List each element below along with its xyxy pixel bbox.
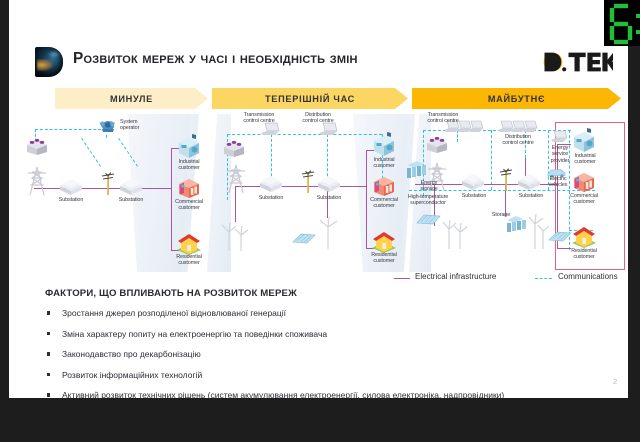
- factors-section: ФАКТОРИ, ЩО ВПЛИВАЮТЬ НА РОЗВИТОК МЕРЕЖ …: [45, 288, 605, 398]
- substation-icon: [459, 173, 487, 193]
- industrial-customer-label: Industrial customer: [168, 159, 210, 172]
- solar-panel-icon: [291, 232, 317, 246]
- bullet-square-icon: [47, 373, 50, 376]
- substation-label: Substation: [304, 195, 354, 201]
- energy-storage-icon: [404, 160, 432, 182]
- communications-legend-label: Communications: [558, 272, 618, 281]
- comm-line: [227, 134, 382, 135]
- electrical-legend-label: Electrical infrastructure: [415, 272, 496, 281]
- factor-item: Розвиток інформаційних технологій: [45, 370, 605, 381]
- residential-customer-icon: [370, 231, 398, 253]
- presentation-slide: Розвиток мереж у часі і необхідність змі…: [9, 0, 628, 398]
- page-title: Розвиток мереж у часі і необхідність змі…: [73, 50, 358, 68]
- factor-item-text: Зростання джерел розподіленої відновлюва…: [62, 308, 286, 318]
- substation-icon: [315, 175, 343, 195]
- substation-icon: [257, 175, 285, 195]
- factors-heading: ФАКТОРИ, ЩО ВПЛИВАЮТЬ НА РОЗВИТОК МЕРЕЖ: [45, 288, 605, 299]
- globe-logo-icon: [35, 47, 63, 77]
- electrical-legend-line: [394, 278, 410, 279]
- timeline-banners: МИНУЛЕ ТЕПЕРІШНІЙ ЧАС МАЙБУТНЄ: [55, 88, 621, 109]
- factor-item: Законодавство про декарбонізацію: [45, 349, 605, 360]
- distribution-control-label: Distribution control centre: [485, 134, 551, 147]
- power-plant-icon: [25, 136, 49, 156]
- energy-storage-label: Energy storage: [407, 180, 451, 193]
- substation-label: Substation: [246, 195, 296, 201]
- commercial-customer-icon: [371, 174, 397, 196]
- distribution-control-label: Distribution control centre: [286, 112, 350, 125]
- dtek-logo: [541, 51, 613, 73]
- digital-clock-overlay: [604, 0, 640, 46]
- substation-icon: [57, 178, 85, 198]
- transmission-tower-icon: [226, 164, 246, 194]
- bullet-square-icon: [47, 332, 50, 335]
- factor-item: Зміна характеру попиту на електроенергію…: [45, 329, 605, 340]
- factor-item-text: Активний розвиток технічних рішень (сист…: [62, 390, 504, 398]
- factor-item: Зростання джерел розподіленої відновлюва…: [45, 308, 605, 319]
- utility-pole-icon: [499, 166, 513, 192]
- industrial-customer-icon: [176, 134, 202, 158]
- factor-item-text: Зміна характеру попиту на електроенергію…: [62, 329, 327, 339]
- commercial-customer-label: Commercial customer: [166, 199, 212, 212]
- wind-turbine-icon: [317, 216, 339, 250]
- laptop-icon: [549, 130, 569, 145]
- diagram-legend: Electrical infrastructure Communications: [394, 272, 628, 286]
- power-plant-icon: [222, 138, 246, 158]
- industrial-customer-label: Industrial customer: [363, 157, 405, 170]
- page-number: 2: [613, 377, 617, 386]
- bullet-square-icon: [47, 352, 50, 355]
- banner-future: МАЙБУТНЄ: [412, 88, 621, 109]
- system-operator-icon: [97, 117, 119, 135]
- transmission-tower-icon: [27, 166, 47, 196]
- residential-customer-icon: [175, 233, 203, 255]
- slide-header: Розвиток мереж у часі і необхідність змі…: [21, 46, 621, 80]
- bullet-square-icon: [47, 311, 50, 314]
- factor-item-text: Розвиток інформаційних технологій: [62, 370, 202, 380]
- slide-viewer: Розвиток мереж у часі і необхідність змі…: [0, 0, 640, 442]
- banner-present: ТЕПЕРІШНІЙ ЧАС: [212, 88, 408, 109]
- substation-label: Substation: [449, 193, 499, 199]
- comm-line: [35, 129, 106, 130]
- bullet-square-icon: [47, 393, 50, 396]
- industrial-customer-icon: [571, 128, 597, 152]
- banner-past: МИНУЛЕ: [55, 88, 208, 109]
- communications-legend-line: [535, 278, 552, 279]
- wind-turbine-icon: [221, 220, 251, 252]
- residential-customer-label: Residential customer: [560, 248, 608, 261]
- grid-evolution-diagram: Substation: [21, 112, 625, 280]
- factor-item: Активний розвиток технічних рішень (сист…: [45, 390, 605, 398]
- substation-icon: [117, 178, 145, 198]
- commercial-customer-icon: [176, 176, 202, 198]
- transmission-control-label: Transmission control centre: [410, 112, 476, 125]
- industrial-customer-icon: [371, 132, 397, 156]
- utility-pole-icon: [101, 170, 115, 196]
- substation-label: Substation: [506, 193, 556, 199]
- comm-line: [81, 138, 101, 167]
- diagram-panel-past: Substation: [21, 112, 209, 280]
- substation-label: Substation: [106, 197, 156, 203]
- diagram-panel-present: Transmission control centre Distribution…: [207, 112, 413, 280]
- transmission-control-label: Transmission control centre: [226, 112, 292, 125]
- factor-item-text: Законодавство про декарбонізацію: [62, 349, 201, 359]
- superconductor-cable-icon: [415, 212, 443, 227]
- utility-pole-icon: [301, 168, 315, 194]
- system-operator-label: System operator: [120, 119, 160, 132]
- diagram-panel-future: Transmission control centre: [409, 112, 625, 280]
- wind-turbine-icon: [441, 216, 469, 250]
- residential-customer-icon: [570, 226, 598, 248]
- commercial-customer-label: Commercial customer: [561, 193, 607, 206]
- residential-customer-label: Residential customer: [360, 252, 408, 265]
- electric-vehicles-label: Electric vehicles: [541, 176, 575, 189]
- substation-icon: [515, 173, 543, 193]
- residential-customer-label: Residential customer: [165, 254, 213, 267]
- industrial-customer-label: Industrial customer: [564, 153, 606, 166]
- seven-segment-digit-icon: [604, 0, 640, 46]
- power-plant-icon: [425, 134, 449, 154]
- substation-label: Substation: [46, 197, 96, 203]
- commercial-customer-icon: [571, 170, 597, 192]
